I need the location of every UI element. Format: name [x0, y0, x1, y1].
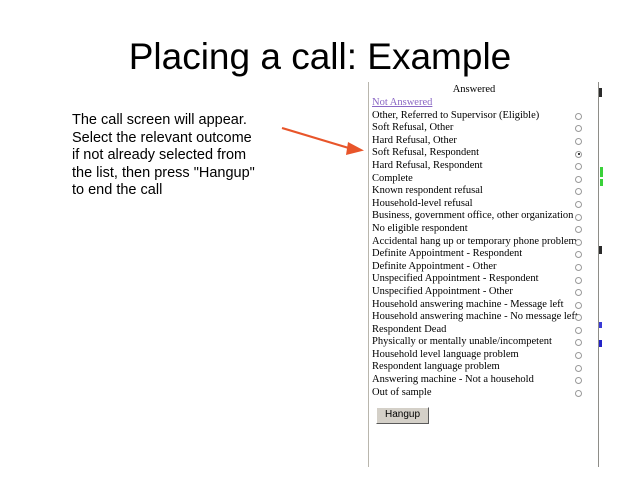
call-outcome-label: Household answering machine - Message le…: [372, 299, 564, 312]
call-outcome-row[interactable]: Hard Refusal, Other: [369, 135, 598, 148]
call-outcome-label: Respondent Dead: [372, 324, 446, 337]
call-outcome-radio[interactable]: [575, 188, 582, 195]
body-text-line: if not already selected from: [72, 147, 287, 165]
call-outcome-row[interactable]: Unspecified Appointment - Respondent: [369, 273, 598, 286]
call-outcome-radio[interactable]: [575, 201, 582, 208]
call-outcome-label: Soft Refusal, Other: [372, 122, 453, 135]
call-outcome-label: Hard Refusal, Other: [372, 135, 457, 148]
edge-artifact-green: [600, 179, 603, 186]
call-outcome-label: Known respondent refusal: [372, 185, 483, 198]
call-outcome-radio[interactable]: [575, 138, 582, 145]
call-outcome-radio[interactable]: [575, 289, 582, 296]
call-outcome-row[interactable]: Unspecified Appointment - Other: [369, 286, 598, 299]
call-outcome-radio[interactable]: [575, 239, 582, 246]
call-outcome-radio[interactable]: [575, 390, 582, 397]
call-outcome-radio[interactable]: [575, 327, 582, 334]
call-outcome-label: Out of sample: [372, 387, 432, 400]
call-outcome-label: Household answering machine - No message…: [372, 311, 578, 324]
edge-artifact-blue: [599, 322, 602, 328]
edge-artifact-green: [600, 167, 603, 177]
call-outcome-label: Business, government office, other organ…: [372, 210, 573, 223]
call-outcome-row[interactable]: Definite Appointment - Respondent: [369, 248, 598, 261]
edge-artifact-blue: [599, 340, 602, 347]
call-outcome-label: Answering machine - Not a household: [372, 374, 534, 387]
call-outcome-radio[interactable]: [575, 151, 582, 158]
edge-artifact-black: [599, 88, 602, 97]
call-outcome-label: Definite Appointment - Respondent: [372, 248, 522, 261]
call-outcome-radio[interactable]: [575, 226, 582, 233]
call-outcome-row[interactable]: Household level language problem: [369, 349, 598, 362]
call-outcome-radio[interactable]: [575, 264, 582, 271]
body-text-line: Select the relevant outcome: [72, 130, 287, 148]
body-text-line: to end the call: [72, 182, 287, 200]
call-outcome-label: Accidental hang up or temporary phone pr…: [372, 236, 577, 249]
call-outcome-label: Definite Appointment - Other: [372, 261, 497, 274]
call-outcome-row[interactable]: Answering machine - Not a household: [369, 374, 598, 387]
body-text-block: The call screen will appear. Select the …: [72, 112, 287, 200]
call-outcome-label: Household-level refusal: [372, 198, 473, 211]
call-outcome-label: Complete: [372, 173, 413, 186]
call-outcome-label: Unspecified Appointment - Other: [372, 286, 513, 299]
call-outcome-row[interactable]: No eligible respondent: [369, 223, 598, 236]
call-outcome-row[interactable]: Household answering machine - Message le…: [369, 299, 598, 312]
call-outcome-row[interactable]: Household-level refusal: [369, 198, 598, 211]
call-outcome-radio[interactable]: [575, 365, 582, 372]
answered-header: Answered: [369, 84, 579, 95]
call-outcome-row[interactable]: Definite Appointment - Other: [369, 261, 598, 274]
call-outcome-row[interactable]: Complete: [369, 173, 598, 186]
slide: Placing a call: Example The call screen …: [0, 0, 640, 480]
call-outcome-label: Physically or mentally unable/incompeten…: [372, 336, 552, 349]
call-outcome-row[interactable]: Respondent Dead: [369, 324, 598, 337]
call-outcome-label: Respondent language problem: [372, 361, 500, 374]
call-outcome-radio[interactable]: [575, 314, 582, 321]
call-outcome-label: Hard Refusal, Respondent: [372, 160, 483, 173]
call-outcome-label: No eligible respondent: [372, 223, 468, 236]
not-answered-link[interactable]: Not Answered: [372, 97, 432, 110]
call-outcome-label: Other, Referred to Supervisor (Eligible): [372, 110, 539, 123]
call-outcome-row[interactable]: Hard Refusal, Respondent: [369, 160, 598, 173]
call-outcome-row[interactable]: Not Answered: [369, 97, 598, 110]
call-outcome-radio[interactable]: [575, 251, 582, 258]
call-outcome-radio[interactable]: [575, 302, 582, 309]
call-outcome-row[interactable]: Out of sample: [369, 387, 598, 400]
call-outcome-radio[interactable]: [575, 113, 582, 120]
call-outcome-radio[interactable]: [575, 352, 582, 359]
call-outcome-label: Soft Refusal, Respondent: [372, 147, 479, 160]
call-outcome-radio[interactable]: [575, 277, 582, 284]
call-outcome-radio[interactable]: [575, 377, 582, 384]
call-outcome-row[interactable]: Other, Referred to Supervisor (Eligible): [369, 110, 598, 123]
call-outcome-radio[interactable]: [575, 163, 582, 170]
call-outcome-label: Household level language problem: [372, 349, 519, 362]
call-outcome-row[interactable]: Soft Refusal, Respondent: [369, 147, 598, 160]
pointer-arrow-icon: [280, 120, 370, 165]
call-outcome-row[interactable]: Business, government office, other organ…: [369, 210, 598, 223]
edge-artifact-black: [599, 246, 602, 254]
call-outcome-row[interactable]: Accidental hang up or temporary phone pr…: [369, 236, 598, 249]
call-outcome-radio[interactable]: [575, 176, 582, 183]
call-outcome-row[interactable]: Soft Refusal, Other: [369, 122, 598, 135]
call-outcome-row[interactable]: Known respondent refusal: [369, 185, 598, 198]
call-outcome-list: Not AnsweredOther, Referred to Superviso…: [369, 97, 598, 399]
call-outcome-row[interactable]: Household answering machine - No message…: [369, 311, 598, 324]
page-title: Placing a call: Example: [0, 36, 640, 78]
call-outcome-radio[interactable]: [575, 339, 582, 346]
call-outcome-row[interactable]: Physically or mentally unable/incompeten…: [369, 336, 598, 349]
body-text-line: The call screen will appear.: [72, 112, 287, 130]
body-text-line: the list, then press "Hangup": [72, 165, 287, 183]
call-outcome-radio[interactable]: [575, 214, 582, 221]
call-screen-panel: Answered Not AnsweredOther, Referred to …: [368, 82, 599, 467]
call-outcome-radio[interactable]: [575, 125, 582, 132]
hangup-button[interactable]: Hangup: [376, 407, 429, 424]
call-outcome-row[interactable]: Respondent language problem: [369, 361, 598, 374]
call-outcome-label: Unspecified Appointment - Respondent: [372, 273, 539, 286]
